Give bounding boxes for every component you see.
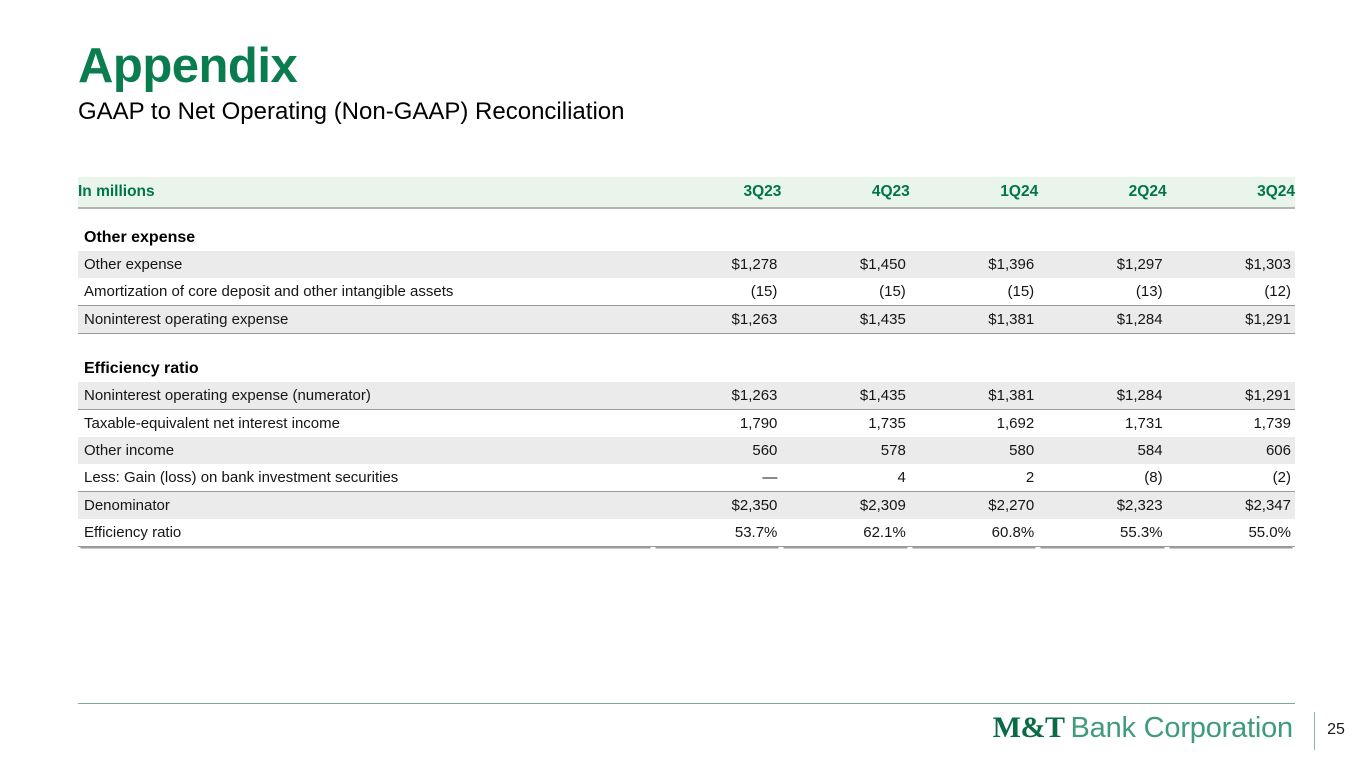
page-number: 25 bbox=[1323, 721, 1349, 739]
table-row: Taxable-equivalent net interest income 1… bbox=[78, 410, 1295, 438]
row-value-1q24: $1,396 bbox=[910, 251, 1038, 278]
row-value-3q23: — bbox=[653, 464, 781, 492]
row-value-3q23: $2,350 bbox=[653, 492, 781, 520]
row-value-1q24: $2,270 bbox=[910, 492, 1038, 520]
row-value-3q24: $1,303 bbox=[1167, 251, 1295, 278]
table-row: Amortization of core deposit and other i… bbox=[78, 278, 1295, 306]
row-value-4q23: 1,735 bbox=[781, 410, 909, 438]
row-value-4q23: (15) bbox=[781, 278, 909, 306]
row-label: Noninterest operating expense (numerator… bbox=[78, 382, 653, 410]
row-label: Amortization of core deposit and other i… bbox=[78, 278, 653, 306]
row-value-4q23: 4 bbox=[781, 464, 909, 492]
logo-mt-text: M&T bbox=[993, 711, 1065, 745]
row-value-3q24: 606 bbox=[1167, 437, 1295, 464]
row-value-2q24: $1,297 bbox=[1038, 251, 1166, 278]
table-row-total: Denominator $2,350 $2,309 $2,270 $2,323 … bbox=[78, 492, 1295, 520]
row-value-1q24: 1,692 bbox=[910, 410, 1038, 438]
table-header-row: In millions 3Q23 4Q23 1Q24 2Q24 3Q24 bbox=[78, 177, 1295, 208]
table-row-total: Efficiency ratio 53.7% 62.1% 60.8% 55.3%… bbox=[78, 519, 1295, 547]
row-value-3q23: (15) bbox=[653, 278, 781, 306]
table-row-total: Noninterest operating expense $1,263 $1,… bbox=[78, 306, 1295, 334]
title-block: Appendix GAAP to Net Operating (Non-GAAP… bbox=[78, 42, 1278, 127]
slide: Appendix GAAP to Net Operating (Non-GAAP… bbox=[0, 0, 1365, 768]
row-value-2q24: 55.3% bbox=[1038, 519, 1166, 547]
page-number-divider bbox=[1314, 712, 1315, 750]
row-value-2q24: $1,284 bbox=[1038, 306, 1166, 334]
reconciliation-table: In millions 3Q23 4Q23 1Q24 2Q24 3Q24 Oth… bbox=[78, 177, 1295, 547]
column-header-3q24: 3Q24 bbox=[1167, 177, 1295, 208]
row-value-2q24: 1,731 bbox=[1038, 410, 1166, 438]
row-value-4q23: $1,435 bbox=[781, 382, 909, 410]
row-value-3q24: (12) bbox=[1167, 278, 1295, 306]
spacer-row bbox=[78, 334, 1295, 357]
section-heading-efficiency-ratio: Efficiency ratio bbox=[78, 356, 1295, 382]
row-value-1q24: 580 bbox=[910, 437, 1038, 464]
row-label: Other income bbox=[78, 437, 653, 464]
row-value-2q24: (13) bbox=[1038, 278, 1166, 306]
table-row: Other income 560 578 580 584 606 bbox=[78, 437, 1295, 464]
row-label: Efficiency ratio bbox=[78, 519, 653, 547]
logo-bank-corporation-text: Bank Corporation bbox=[1071, 712, 1294, 745]
header-units-label: In millions bbox=[78, 177, 653, 208]
row-value-3q23: $1,278 bbox=[653, 251, 781, 278]
row-value-3q23: 1,790 bbox=[653, 410, 781, 438]
row-value-1q24: $1,381 bbox=[910, 382, 1038, 410]
row-value-4q23: $2,309 bbox=[781, 492, 909, 520]
row-label: Denominator bbox=[78, 492, 653, 520]
row-label: Noninterest operating expense bbox=[78, 306, 653, 334]
row-value-4q23: $1,450 bbox=[781, 251, 909, 278]
row-value-2q24: $1,284 bbox=[1038, 382, 1166, 410]
table-row: Noninterest operating expense (numerator… bbox=[78, 382, 1295, 410]
row-value-2q24: $2,323 bbox=[1038, 492, 1166, 520]
row-label: Less: Gain (loss) on bank investment sec… bbox=[78, 464, 653, 492]
row-value-3q23: 53.7% bbox=[653, 519, 781, 547]
row-value-3q23: $1,263 bbox=[653, 306, 781, 334]
row-value-2q24: 584 bbox=[1038, 437, 1166, 464]
row-value-1q24: $1,381 bbox=[910, 306, 1038, 334]
row-value-2q24: (8) bbox=[1038, 464, 1166, 492]
row-value-1q24: (15) bbox=[910, 278, 1038, 306]
row-value-3q24: 55.0% bbox=[1167, 519, 1295, 547]
section-heading-label: Efficiency ratio bbox=[78, 356, 1295, 382]
spacer-row bbox=[78, 208, 1295, 225]
column-header-1q24: 1Q24 bbox=[910, 177, 1038, 208]
row-label: Taxable-equivalent net interest income bbox=[78, 410, 653, 438]
section-heading-other-expense: Other expense bbox=[78, 225, 1295, 251]
row-value-3q23: $1,263 bbox=[653, 382, 781, 410]
company-logo: M&T Bank Corporation bbox=[993, 711, 1293, 751]
column-header-4q23: 4Q23 bbox=[781, 177, 909, 208]
row-value-3q24: $1,291 bbox=[1167, 306, 1295, 334]
row-label: Other expense bbox=[78, 251, 653, 278]
footer-divider bbox=[78, 703, 1295, 704]
row-value-3q24: 1,739 bbox=[1167, 410, 1295, 438]
row-value-3q24: $2,347 bbox=[1167, 492, 1295, 520]
column-header-2q24: 2Q24 bbox=[1038, 177, 1166, 208]
row-value-4q23: 578 bbox=[781, 437, 909, 464]
reconciliation-table-container: In millions 3Q23 4Q23 1Q24 2Q24 3Q24 Oth… bbox=[78, 177, 1295, 547]
page-subtitle: GAAP to Net Operating (Non-GAAP) Reconci… bbox=[78, 98, 1278, 127]
row-value-3q24: (2) bbox=[1167, 464, 1295, 492]
column-header-3q23: 3Q23 bbox=[653, 177, 781, 208]
table-row: Other expense $1,278 $1,450 $1,396 $1,29… bbox=[78, 251, 1295, 278]
row-value-3q24: $1,291 bbox=[1167, 382, 1295, 410]
row-value-1q24: 60.8% bbox=[910, 519, 1038, 547]
page-title: Appendix bbox=[78, 42, 1278, 92]
row-value-4q23: 62.1% bbox=[781, 519, 909, 547]
table-row: Less: Gain (loss) on bank investment sec… bbox=[78, 464, 1295, 492]
row-value-4q23: $1,435 bbox=[781, 306, 909, 334]
section-heading-label: Other expense bbox=[78, 225, 1295, 251]
row-value-3q23: 560 bbox=[653, 437, 781, 464]
row-value-1q24: 2 bbox=[910, 464, 1038, 492]
